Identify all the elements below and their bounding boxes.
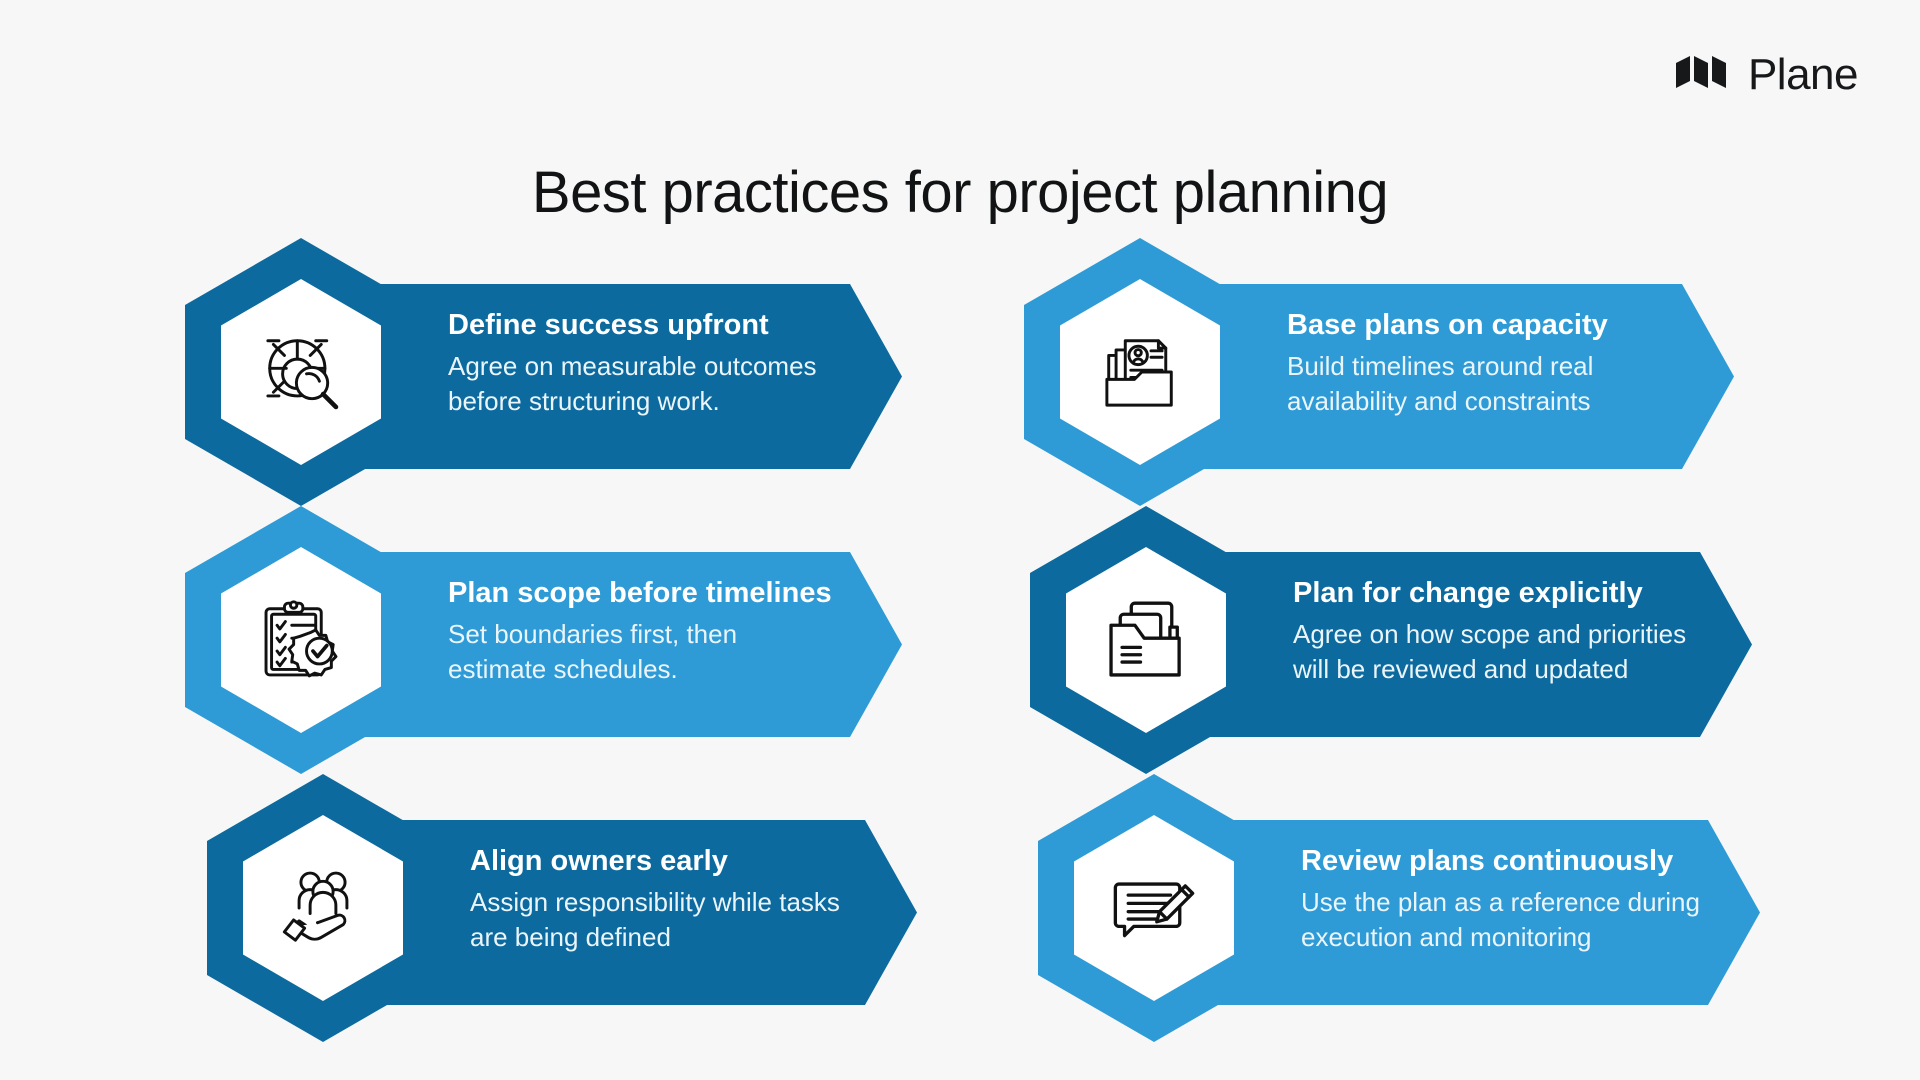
card-review-plans-continuously[interactable]: Review plans continuously Use the plan a… (1010, 774, 1755, 1042)
card-base-plans-on-capacity[interactable]: Base plans on capacity Build timelines a… (1010, 238, 1755, 506)
plane-logo: Plane (1674, 52, 1858, 97)
card-banner: Base plans on capacity Build timelines a… (1174, 284, 1734, 469)
card-description: Use the plan as a reference during execu… (1301, 885, 1700, 955)
folder-profile-document-icon (1094, 326, 1186, 418)
card-title: Define success upfront (448, 308, 842, 343)
card-description: Assign responsibility while tasks are be… (470, 885, 857, 955)
folder-documents-icon (1100, 594, 1192, 686)
card-title: Review plans continuously (1301, 844, 1700, 879)
card-banner: Review plans continuously Use the plan a… (1188, 820, 1760, 1005)
card-align-owners-early[interactable]: Align owners early Assign responsibility… (185, 774, 930, 1042)
target-magnifier-icon (255, 326, 347, 418)
card-description: Build timelines around real availability… (1287, 349, 1674, 419)
plane-logo-wordmark: Plane (1748, 53, 1858, 97)
page-title: Best practices for project planning (0, 159, 1920, 226)
card-banner: Define success upfront Agree on measurab… (335, 284, 902, 469)
card-define-success-upfront[interactable]: Define success upfront Agree on measurab… (185, 238, 930, 506)
clipboard-checklist-gear-icon (255, 594, 347, 686)
card-plan-scope-before-timelines[interactable]: Plan scope before timelines Set boundari… (185, 506, 930, 774)
card-hexagon (207, 774, 439, 1042)
card-hexagon (1030, 506, 1262, 774)
speech-bubble-pencil-icon (1108, 862, 1200, 954)
card-title: Plan scope before timelines (448, 576, 842, 611)
card-title: Base plans on capacity (1287, 308, 1674, 343)
card-description: Agree on how scope and priorities will b… (1293, 617, 1692, 687)
card-banner: Plan scope before timelines Set boundari… (335, 552, 902, 737)
hand-holding-people-icon (277, 862, 369, 954)
best-practices-grid: Define success upfront Agree on measurab… (185, 238, 1755, 1042)
card-description: Agree on measurable outcomes before stru… (448, 349, 842, 419)
card-hexagon (185, 238, 417, 506)
card-description: Set boundaries first, then estimate sche… (448, 617, 842, 687)
plane-logo-mark-icon (1674, 52, 1734, 97)
card-title: Align owners early (470, 844, 857, 879)
card-hexagon (185, 506, 417, 774)
card-title: Plan for change explicitly (1293, 576, 1692, 611)
card-hexagon (1038, 774, 1270, 1042)
card-hexagon (1024, 238, 1256, 506)
card-plan-for-change-explicitly[interactable]: Plan for change explicitly Agree on how … (1010, 506, 1755, 774)
card-banner: Plan for change explicitly Agree on how … (1180, 552, 1752, 737)
card-banner: Align owners early Assign responsibility… (357, 820, 917, 1005)
